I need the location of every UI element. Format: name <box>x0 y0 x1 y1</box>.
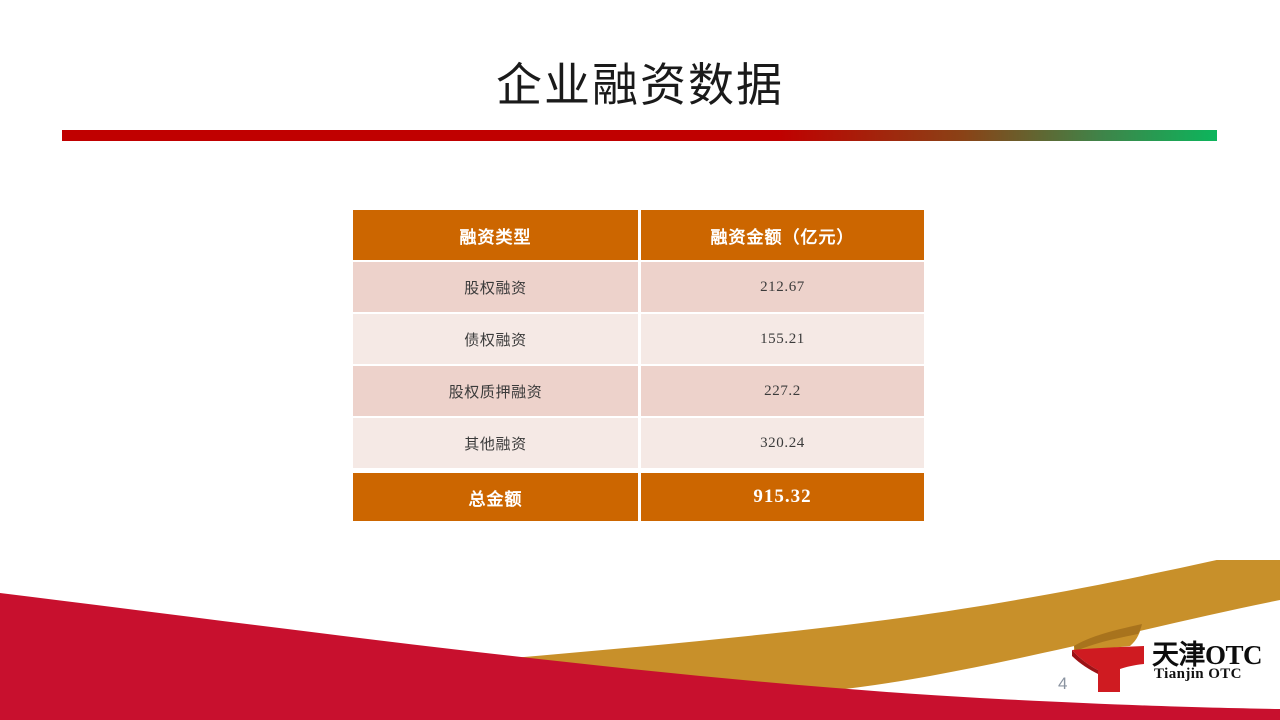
table-row: 债权融资 155.21 <box>353 312 924 364</box>
table-header-financing-type: 融资类型 <box>353 210 641 260</box>
cell-financing-type: 其他融资 <box>353 416 641 468</box>
cell-total-label: 总金额 <box>353 468 641 521</box>
table-total-row: 总金额 915.32 <box>353 468 924 521</box>
cell-financing-type: 债权融资 <box>353 312 641 364</box>
cell-financing-amount: 155.21 <box>641 312 924 364</box>
page-number: 4 <box>1058 674 1067 694</box>
brand-logo: 天津OTC Tianjin OTC <box>1068 622 1274 698</box>
table-header-financing-amount: 融资金额（亿元） <box>641 210 924 260</box>
slide-root: 企业融资数据 融资类型 融资金额（亿元） 股权融资 212.67 债权融资 15… <box>0 0 1280 720</box>
financing-data-table: 融资类型 融资金额（亿元） 股权融资 212.67 债权融资 155.21 股权… <box>353 210 924 521</box>
tianjin-otc-t-mark-icon <box>1068 622 1152 694</box>
title-divider-bar <box>62 130 1217 141</box>
cell-financing-type: 股权质押融资 <box>353 364 641 416</box>
cell-financing-type: 股权融资 <box>353 260 641 312</box>
logo-name-en: Tianjin OTC <box>1154 666 1242 683</box>
cell-financing-amount: 227.2 <box>641 364 924 416</box>
page-title: 企业融资数据 <box>0 58 1280 113</box>
table-header-row: 融资类型 融资金额（亿元） <box>353 210 924 260</box>
table-row: 其他融资 320.24 <box>353 416 924 468</box>
table-row: 股权质押融资 227.2 <box>353 364 924 416</box>
table-row: 股权融资 212.67 <box>353 260 924 312</box>
cell-financing-amount: 212.67 <box>641 260 924 312</box>
cell-total-amount: 915.32 <box>641 468 924 521</box>
cell-financing-amount: 320.24 <box>641 416 924 468</box>
